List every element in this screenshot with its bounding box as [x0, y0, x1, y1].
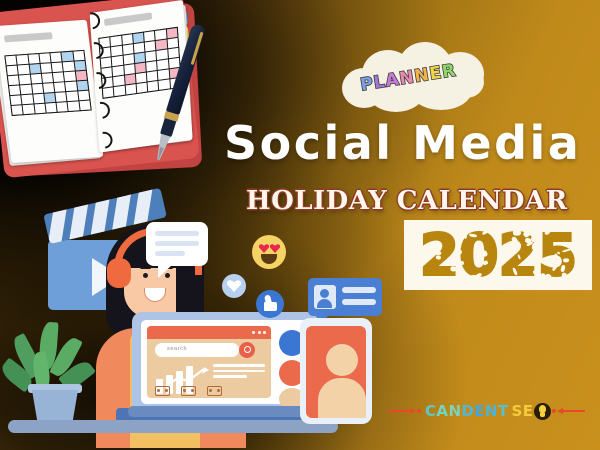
- phone-avatar-body: [318, 378, 366, 418]
- calendar-cell: [134, 43, 145, 53]
- calendar-cell: [135, 63, 146, 73]
- calendar-cell: [62, 52, 73, 62]
- year-block: 2025: [404, 220, 592, 290]
- heart-eyes-emoji-icon: [252, 235, 286, 269]
- calendar-cell: [12, 105, 23, 115]
- logo-letter: N: [448, 402, 461, 420]
- calendar-cell: [144, 31, 155, 41]
- calendar-cell: [146, 51, 157, 61]
- emoji-mouth: [261, 254, 277, 264]
- calendar-cell: [52, 62, 63, 72]
- calendar-cell: [124, 64, 135, 74]
- year-grunge-speckle: [513, 230, 521, 236]
- logo-dot: [417, 409, 421, 413]
- calendar-cell: [17, 55, 28, 65]
- year-grunge-speckle: [435, 251, 442, 256]
- heart-glyph: [227, 280, 241, 292]
- heart-reaction-icon: [222, 274, 246, 298]
- calendar-cell: [39, 53, 50, 63]
- calendar-cell: [29, 64, 40, 74]
- bubble-line: [155, 241, 199, 246]
- calendar-cell: [167, 38, 178, 48]
- logo-dot: [552, 409, 556, 413]
- calendar-cell: [113, 76, 124, 86]
- logo-right-rule: [563, 410, 585, 412]
- calendar-cell: [114, 86, 125, 96]
- page-subtitle: HOLIDAY CALENDAR: [246, 186, 596, 216]
- calendar-cell: [125, 74, 136, 84]
- calendar-cell: [146, 61, 157, 71]
- bubble-line: [155, 251, 185, 256]
- logo-left-rule: [388, 410, 410, 412]
- calendar-cell: [51, 52, 62, 62]
- calendar-cell: [43, 83, 54, 93]
- calendar-cell: [19, 75, 30, 85]
- year-grunge-speckle: [500, 278, 505, 282]
- calendar-cell: [32, 84, 43, 94]
- calendar-cell: [74, 61, 85, 71]
- logo-text-seo: SE: [512, 402, 534, 420]
- calendar-cell: [42, 73, 53, 83]
- phone-screen: [306, 326, 366, 418]
- logo-letter: E: [474, 402, 485, 420]
- message-bubble-icon: [146, 222, 208, 266]
- calendar-cell: [45, 103, 56, 113]
- calendar-cell: [65, 81, 76, 91]
- avatar-head: [320, 289, 329, 298]
- calendar-cell: [73, 51, 84, 61]
- laptop-lid: search: [132, 312, 318, 412]
- calendar-cell: [155, 30, 166, 40]
- calendar-cell: [76, 71, 87, 81]
- calendar-cell: [167, 28, 178, 38]
- laptop-screen: search: [141, 320, 309, 404]
- year-grunge-speckle: [450, 266, 456, 272]
- bubble-line: [155, 231, 199, 236]
- book-page-header-left: [4, 32, 53, 42]
- calendar-cell: [158, 69, 169, 79]
- logo-letter: C: [425, 402, 436, 420]
- calendar-cell: [136, 83, 147, 93]
- calendar-cell: [134, 53, 145, 63]
- logo-text-candent: CANDENT: [425, 402, 509, 420]
- calendar-cell: [64, 72, 75, 82]
- thumbs-up-reaction-icon: [256, 290, 284, 318]
- calendar-cell: [123, 54, 134, 64]
- calendar-cell: [5, 56, 16, 66]
- logo-left-arrow-icon: [410, 408, 416, 414]
- calendar-cell: [7, 66, 18, 76]
- poster-canvas: search: [0, 0, 600, 450]
- calendar-cell: [63, 62, 74, 72]
- calendar-cell: [156, 40, 167, 50]
- calendar-cell: [28, 54, 39, 64]
- calendar-cell: [33, 94, 44, 104]
- emoji-heart-eye: [259, 244, 269, 253]
- calendar-cell: [68, 101, 79, 111]
- card-line: [342, 299, 376, 305]
- calendar-cell: [147, 71, 158, 81]
- calendar-cell: [77, 81, 88, 91]
- potted-plant-illustration: [10, 318, 98, 428]
- calendar-cell: [78, 91, 89, 101]
- calendar-cell: [148, 81, 159, 91]
- calendar-cell: [145, 41, 156, 51]
- year-grunge-speckle: [512, 249, 517, 255]
- calendar-cell: [112, 56, 123, 66]
- card-line: [342, 287, 376, 293]
- calendar-cell: [54, 82, 65, 92]
- trend-arrow-icon: [164, 366, 210, 388]
- calendar-cell: [22, 95, 33, 105]
- browser-window: search: [147, 326, 271, 398]
- calendar-cell: [8, 76, 19, 86]
- calendar-cell: [30, 74, 41, 84]
- calendar-cell: [67, 91, 78, 101]
- thumb-up-glyph: [264, 294, 272, 304]
- calendar-cell: [113, 66, 124, 76]
- calendar-cell: [23, 104, 34, 114]
- calendar-cell: [122, 44, 133, 54]
- calendar-cell: [125, 84, 136, 94]
- avatar: [314, 285, 336, 309]
- calendar-cell: [55, 92, 66, 102]
- calendar-cell: [157, 49, 168, 59]
- browser-window-dots: [252, 331, 266, 334]
- page-title: Social Media: [224, 120, 590, 166]
- candent-seo-logo[interactable]: CANDENT SE: [388, 398, 594, 424]
- calendar-grid-left: [4, 50, 91, 116]
- calendar-cell: [9, 85, 20, 95]
- planner-cloud-badge: PLANNER: [338, 42, 488, 114]
- calendar-cell: [10, 95, 21, 105]
- calendar-cell: [57, 102, 68, 112]
- book-page-header-right: [104, 12, 152, 26]
- pen-nib: [153, 134, 170, 162]
- logo-letter: A: [436, 402, 448, 420]
- browser-titlebar: [147, 326, 271, 339]
- calendar-cell: [157, 59, 168, 69]
- calendar-cell: [133, 33, 144, 43]
- headphone-earcup-icon: [107, 258, 131, 288]
- calendar-cell: [136, 73, 147, 83]
- calendar-cell: [18, 65, 29, 75]
- calendar-cell: [122, 34, 133, 44]
- logo-letter: D: [461, 402, 474, 420]
- phone-avatar-head: [326, 344, 358, 376]
- planner-letter: R: [441, 61, 458, 83]
- calendar-cell: [20, 85, 31, 95]
- emoji-heart-eye: [270, 244, 280, 253]
- calendar-cell: [53, 72, 64, 82]
- calendar-cell: [79, 101, 90, 111]
- calendar-cell: [34, 104, 45, 114]
- profile-card-icon: [308, 278, 382, 316]
- browser-chips: [155, 386, 222, 396]
- desk-surface: [8, 420, 338, 433]
- lightbulb-icon: [534, 403, 551, 420]
- browser-search-input[interactable]: search: [155, 343, 239, 357]
- browser-text-lines: [213, 364, 265, 381]
- calendar-cell: [44, 93, 55, 103]
- avatar-body: [317, 299, 332, 308]
- calendar-cell: [40, 63, 51, 73]
- logo-letter: T: [498, 402, 509, 420]
- mobile-profile-screen-icon: [300, 318, 372, 424]
- search-icon[interactable]: [239, 342, 255, 358]
- calendar-cell: [111, 46, 122, 56]
- browser-search-value: search: [167, 346, 187, 352]
- logo-letter: N: [485, 402, 498, 420]
- calendar-cell: [111, 36, 122, 46]
